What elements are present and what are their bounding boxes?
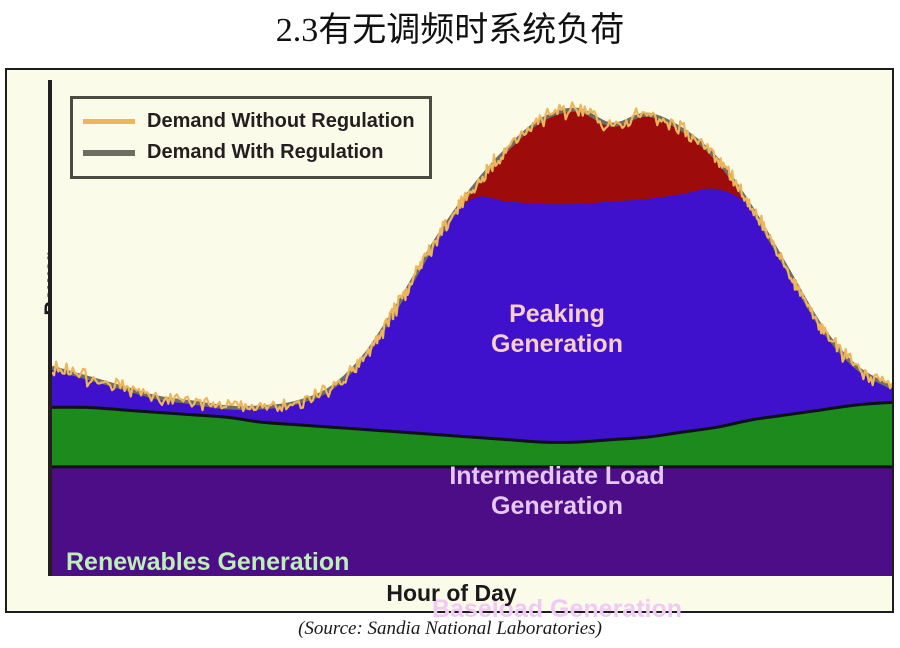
- legend-item-demand-with-regulation: Demand With Regulation: [83, 137, 415, 168]
- chart-legend: Demand Without Regulation Demand With Re…: [70, 96, 432, 179]
- area-baseload-generation: [52, 467, 892, 576]
- legend-item-demand-without-regulation: Demand Without Regulation: [83, 106, 415, 137]
- legend-label-without-regulation: Demand Without Regulation: [147, 110, 415, 133]
- legend-swatch-without-regulation: [83, 119, 135, 124]
- plot-area: Peaking Generation Intermediate Load Gen…: [48, 80, 888, 576]
- legend-label-with-regulation: Demand With Regulation: [147, 141, 383, 164]
- legend-swatch-with-regulation: [83, 150, 135, 156]
- chart-page: 2.3有无调频时系统负荷 Power Peaking Generation In…: [0, 0, 900, 648]
- source-caption: (Source: Sandia National Laboratories): [0, 618, 900, 640]
- page-title: 2.3有无调频时系统负荷: [0, 8, 900, 54]
- x-axis-label: Hour of Day: [7, 580, 896, 607]
- figure-frame: Power Peaking Generation Intermediate Lo…: [5, 68, 894, 613]
